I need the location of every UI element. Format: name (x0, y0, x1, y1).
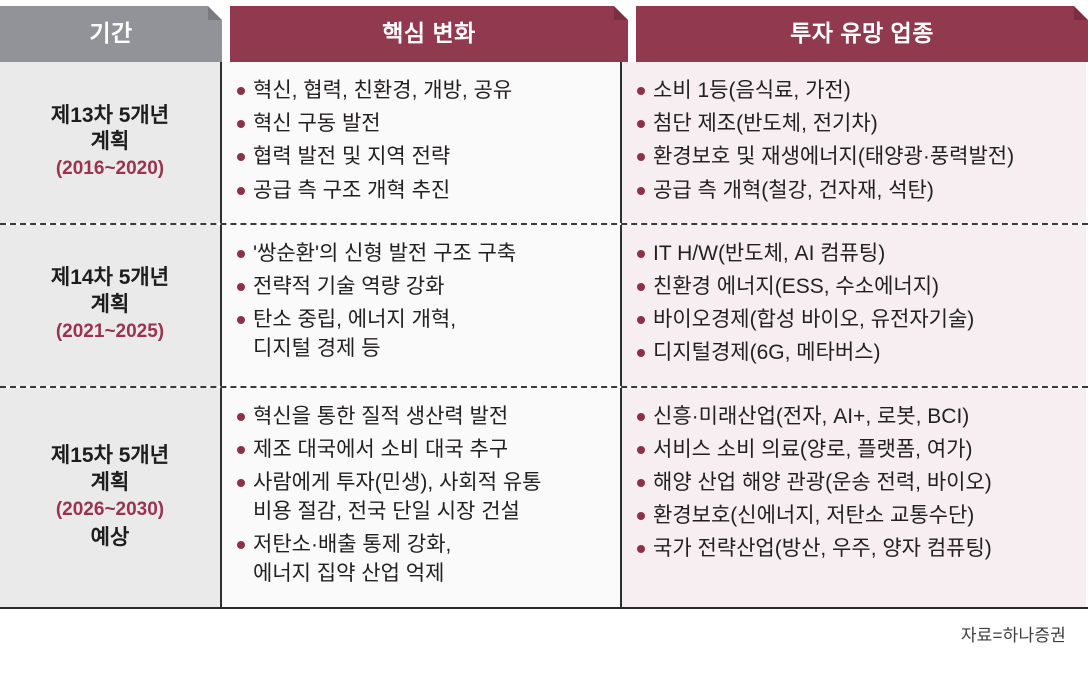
table-header-row: 기간 핵심 변화 투자 유망 업종 (0, 0, 1088, 62)
five-year-plan-comparison-table: 기간 핵심 변화 투자 유망 업종 제13차 5개년 계획 (2016~2020… (0, 0, 1088, 674)
core-change-cell: 혁신, 협력, 친환경, 개방, 공유 혁신 구동 발전 협력 발전 및 지역 … (222, 62, 622, 223)
column-header-core-change-label: 핵심 변화 (382, 22, 476, 47)
list-item: 혁신 구동 발전 (236, 109, 620, 138)
list-item: 친환경 에너지(ESS, 수소에너지) (636, 272, 1086, 301)
table-row: 제14차 5개년 계획 (2021~2025) '쌍순환'의 신형 발전 구조 … (0, 223, 1088, 386)
table-body: 제13차 5개년 계획 (2016~2020) 혁신, 협력, 친환경, 개방,… (0, 62, 1088, 609)
list-item: 첨단 제조(반도체, 전기차) (636, 109, 1086, 138)
list-item: 해양 산업 해양 관광(운송 전력, 바이오) (636, 468, 1086, 497)
core-change-cell: 혁신을 통한 질적 생산력 발전 제조 대국에서 소비 대국 추구 사람에게 투… (222, 388, 622, 607)
core-change-cell: '쌍순환'의 신형 발전 구조 구축 전략적 기술 역량 강화 탄소 중립, 에… (222, 225, 622, 386)
folded-corner-icon (1074, 6, 1088, 20)
period-cell: 제14차 5개년 계획 (2021~2025) (0, 225, 222, 386)
table-row: 제15차 5개년 계획 (2026~2030) 예상 혁신을 통한 질적 생산력… (0, 386, 1088, 607)
list-item: 서비스 소비 의료(양로, 플랫폼, 여가) (636, 435, 1086, 464)
plan-years: (2016~2020) (56, 157, 164, 182)
list-item: 디지털경제(6G, 메타버스) (636, 338, 1086, 367)
core-change-list: '쌍순환'의 신형 발전 구조 구축 전략적 기술 역량 강화 탄소 중립, 에… (236, 239, 620, 364)
sector-list: 신흥·미래산업(전자, AI+, 로봇, BCI) 서비스 소비 의료(양로, … (636, 402, 1086, 564)
sector-cell: 신흥·미래산업(전자, AI+, 로봇, BCI) 서비스 소비 의료(양로, … (622, 388, 1086, 607)
list-item: 환경보호 및 재생에너지(태양광·풍력발전) (636, 142, 1086, 171)
plan-note: 예상 (91, 524, 130, 551)
plan-name: 제13차 5개년 계획 (51, 103, 169, 156)
list-item: '쌍순환'의 신형 발전 구조 구축 (236, 239, 620, 268)
column-header-period-label: 기간 (89, 22, 132, 47)
footer: 자료=하나증권 (0, 609, 1088, 646)
sector-list: IT H/W(반도체, AI 컴퓨팅) 친환경 에너지(ESS, 수소에너지) … (636, 239, 1086, 368)
list-item: 공급 측 개혁(철강, 건자재, 석탄) (636, 176, 1086, 205)
table-row: 제13차 5개년 계획 (2016~2020) 혁신, 협력, 친환경, 개방,… (0, 62, 1088, 223)
period-cell: 제13차 5개년 계획 (2016~2020) (0, 62, 222, 223)
folded-corner-icon (208, 6, 222, 20)
list-item: 사람에게 투자(민생), 사회적 유통 비용 절감, 전국 단일 시장 건설 (236, 468, 620, 526)
list-item: 제조 대국에서 소비 대국 추구 (236, 435, 620, 464)
sector-cell: 소비 1등(음식료, 가전) 첨단 제조(반도체, 전기차) 환경보호 및 재생… (622, 62, 1086, 223)
list-item: 혁신을 통한 질적 생산력 발전 (236, 402, 620, 431)
folded-corner-icon (614, 6, 628, 20)
list-item: 협력 발전 및 지역 전략 (236, 142, 620, 171)
sector-list: 소비 1등(음식료, 가전) 첨단 제조(반도체, 전기차) 환경보호 및 재생… (636, 76, 1086, 205)
column-header-period: 기간 (0, 6, 222, 62)
list-item: 소비 1등(음식료, 가전) (636, 76, 1086, 105)
plan-years: (2026~2030) (56, 498, 164, 523)
column-header-sector-label: 투자 유망 업종 (790, 22, 934, 47)
list-item: IT H/W(반도체, AI 컴퓨팅) (636, 239, 1086, 268)
list-item: 전략적 기술 역량 강화 (236, 272, 620, 301)
list-item: 환경보호(신에너지, 저탄소 교통수단) (636, 501, 1086, 530)
source-attribution: 자료=하나증권 (961, 621, 1066, 646)
plan-years: (2021~2025) (56, 320, 164, 345)
core-change-list: 혁신, 협력, 친환경, 개방, 공유 혁신 구동 발전 협력 발전 및 지역 … (236, 76, 620, 205)
list-item: 국가 전략산업(방산, 우주, 양자 컴퓨팅) (636, 534, 1086, 563)
list-item: 저탄소·배출 통제 강화, 에너지 집약 산업 억제 (236, 530, 620, 588)
list-item: 혁신, 협력, 친환경, 개방, 공유 (236, 76, 620, 105)
period-cell: 제15차 5개년 계획 (2026~2030) 예상 (0, 388, 222, 607)
column-header-core-change: 핵심 변화 (230, 6, 628, 62)
plan-name: 제14차 5개년 계획 (51, 265, 169, 318)
column-header-sector: 투자 유망 업종 (636, 6, 1088, 62)
plan-name: 제15차 5개년 계획 (51, 443, 169, 496)
list-item: 신흥·미래산업(전자, AI+, 로봇, BCI) (636, 402, 1086, 431)
list-item: 탄소 중립, 에너지 개혁, 디지털 경제 등 (236, 305, 620, 363)
core-change-list: 혁신을 통한 질적 생산력 발전 제조 대국에서 소비 대국 추구 사람에게 투… (236, 402, 620, 589)
list-item: 바이오경제(합성 바이오, 유전자기술) (636, 305, 1086, 334)
sector-cell: IT H/W(반도체, AI 컴퓨팅) 친환경 에너지(ESS, 수소에너지) … (622, 225, 1086, 386)
list-item: 공급 측 구조 개혁 추진 (236, 176, 620, 205)
